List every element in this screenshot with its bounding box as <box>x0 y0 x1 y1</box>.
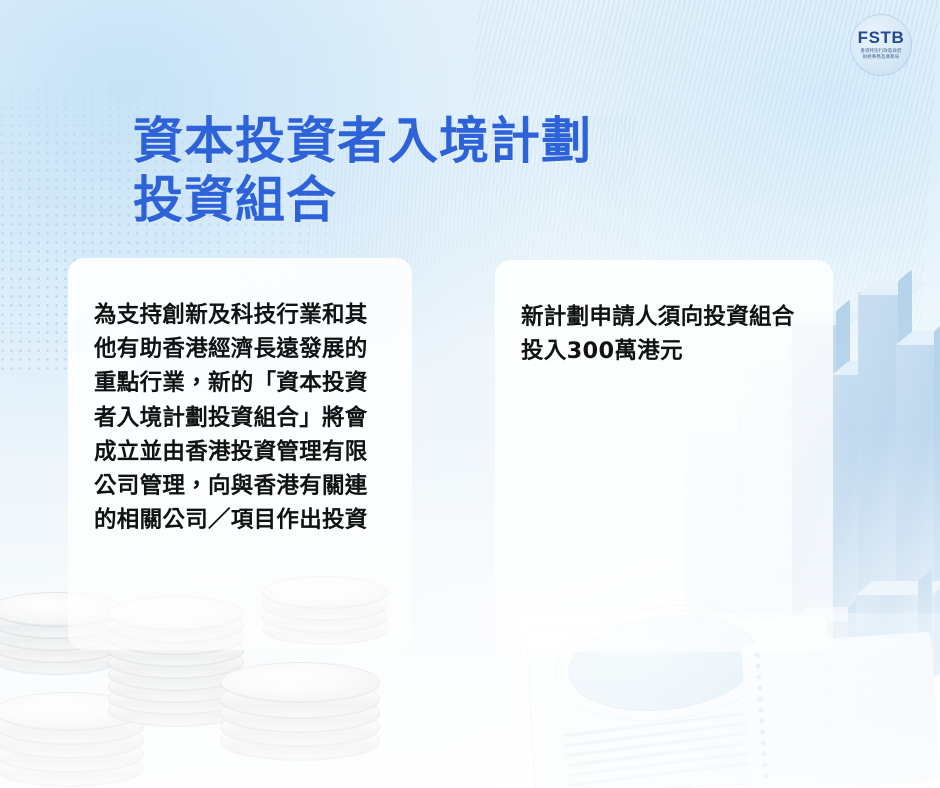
page-title: 資本投資者入境計劃 投資組合 <box>133 112 833 230</box>
page-title-line2: 投資組合 <box>133 171 833 230</box>
circuit-board-icon <box>741 632 940 788</box>
fstb-logo-mark: FSTB <box>858 29 905 46</box>
fstb-logo-subtitle: 香港特別行政區政府 財經事務及庫務局 <box>860 49 901 62</box>
scheme-description-text: 為支持創新及科技行業和其他有助香港經濟長遠發展的重點行業，新的「資本投資者入境計… <box>94 298 386 537</box>
investment-requirement-text: 新計劃申請人須向投資組合投入300萬港元 <box>521 300 807 368</box>
fstb-logo-subtitle-line1: 香港特別行政區政府 <box>860 49 901 54</box>
fstb-logo-subtitle-line2: 財經事務及庫務局 <box>863 55 900 60</box>
scheme-description-card: 為支持創新及科技行業和其他有助香港經濟長遠發展的重點行業，新的「資本投資者入境計… <box>68 258 412 650</box>
fstb-logo: FSTB 香港特別行政區政府 財經事務及庫務局 <box>850 14 912 76</box>
investment-requirement-card: 新計劃申請人須向投資組合投入300萬港元 <box>495 260 833 652</box>
presentation-slide: FSTB 香港特別行政區政府 財經事務及庫務局 資本投資者入境計劃 投資組合 為… <box>0 0 940 788</box>
page-title-line1: 資本投資者入境計劃 <box>133 112 833 171</box>
